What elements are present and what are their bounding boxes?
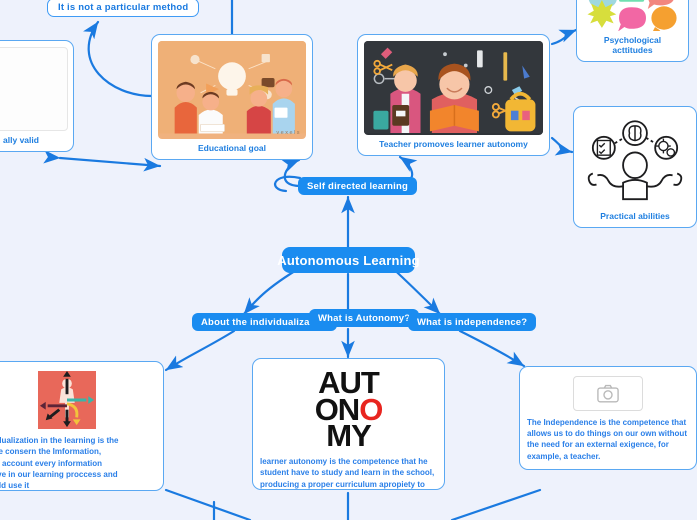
card-educational-goal-watermark: vexels — [276, 130, 301, 136]
note-autonomy[interactable]: AUT ONO MY learner autonomy is the compe… — [252, 358, 445, 490]
card-psychological-attitudes-caption: Psychological acttitudes — [583, 31, 682, 55]
node-central-label: Autonomous Learning — [277, 253, 419, 268]
camera-icon — [597, 384, 619, 403]
node-central-autonomous-learning[interactable]: Autonomous Learning — [282, 247, 415, 273]
card-universally-valid-image — [0, 47, 68, 131]
note-independence-text: The Independence is the competence that … — [527, 417, 689, 462]
note-individualization-line-2: hat we consern the Imformation, — [0, 446, 156, 457]
note-individualization-line-1: ndividualization in the learning is the — [0, 435, 156, 446]
card-universally-valid-caption: ally valid — [3, 131, 39, 145]
card-psychological-attitudes-image — [583, 0, 682, 31]
note-individualization-line-3: g into account every information — [0, 458, 156, 469]
card-educational-goal[interactable]: vexels Educational goal — [151, 34, 313, 160]
note-individualization-line-4: re have in our learning proccess and — [0, 469, 156, 480]
note-individualization-text: ndividualization in the learning is the … — [0, 435, 156, 491]
node-self-directed-learning[interactable]: Self directed learning — [298, 177, 417, 195]
card-psychological-attitudes[interactable]: Psychological acttitudes — [576, 0, 689, 62]
node-self-directed-learning-label: Self directed learning — [307, 181, 408, 192]
mindmap-canvas: ally valid It is not a particular method — [0, 0, 697, 520]
card-practical-abilities-image — [580, 113, 690, 207]
note-independence[interactable]: The Independence is the competence that … — [519, 366, 697, 470]
card-educational-goal-caption: Educational goal — [198, 139, 266, 153]
node-what-is-autonomy-label: What is Autonomy? — [318, 313, 410, 324]
node-not-particular-method[interactable]: It is not a particular method — [47, 0, 199, 17]
card-teacher-promoves[interactable]: Teacher promoves learner autonomy — [357, 34, 550, 156]
note-individualization-image — [38, 371, 96, 429]
node-what-is-independence[interactable]: What is independence? — [408, 313, 536, 331]
card-teacher-promoves-caption: Teacher promoves learner autonomy — [379, 135, 528, 149]
card-universally-valid[interactable]: ally valid — [0, 40, 74, 152]
note-independence-image-placeholder — [573, 376, 643, 411]
note-autonomy-wordmark: AUT ONO MY — [315, 366, 383, 456]
note-individualization[interactable]: ndividualization in the learning is the … — [0, 361, 164, 491]
node-not-particular-method-label: It is not a particular method — [58, 2, 188, 13]
note-autonomy-word-line-4: MY — [315, 423, 383, 450]
card-educational-goal-image: vexels — [158, 41, 306, 139]
card-practical-abilities[interactable]: Practical abilities — [573, 106, 697, 228]
note-autonomy-text: learner autonomy is the competence that … — [260, 456, 437, 490]
node-what-is-autonomy[interactable]: What is Autonomy? — [309, 309, 419, 327]
note-individualization-line-5: e could use it — [0, 480, 156, 491]
card-teacher-promoves-image — [364, 41, 543, 135]
node-what-is-independence-label: What is independence? — [417, 317, 527, 328]
card-practical-abilities-caption: Practical abilities — [600, 207, 669, 221]
